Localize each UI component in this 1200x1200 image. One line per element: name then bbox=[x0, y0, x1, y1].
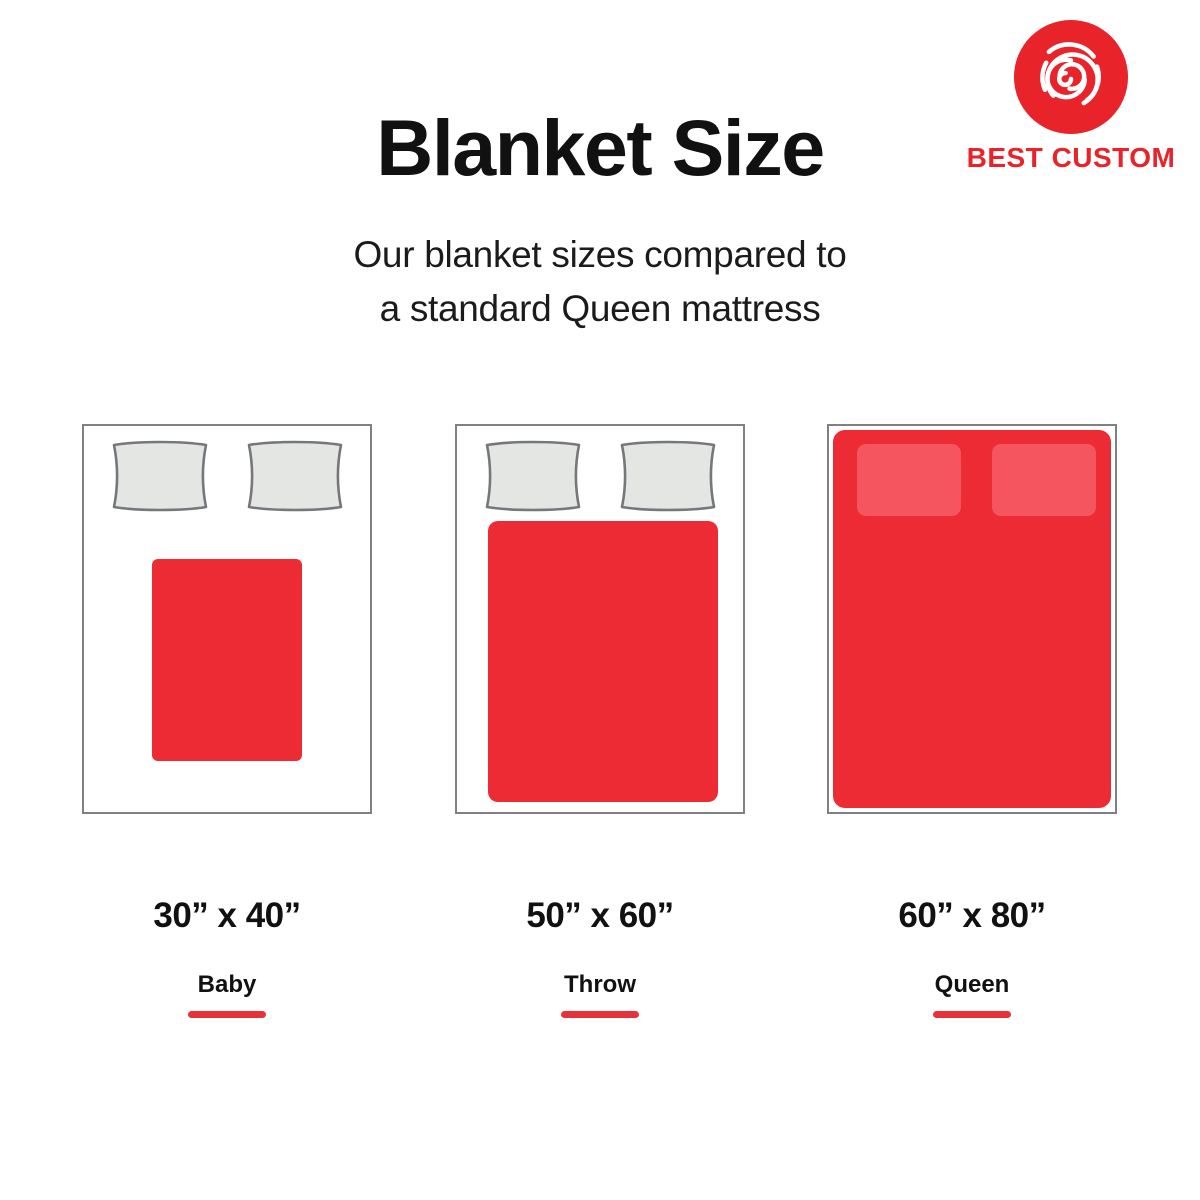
pillow-right-icon bbox=[243, 440, 347, 512]
bed-diagram-row bbox=[0, 424, 1200, 824]
caption-throw: 50” x 60” Throw bbox=[455, 898, 745, 1018]
size-name-label: Queen bbox=[827, 973, 1117, 997]
pillow-left-icon bbox=[108, 440, 212, 512]
size-name-label: Throw bbox=[455, 973, 745, 997]
pillow-left-icon bbox=[857, 444, 961, 516]
caption-row: 30” x 40” Baby 50” x 60” Throw 60” x 80”… bbox=[0, 898, 1200, 1038]
page-title: Blanket Size bbox=[0, 108, 1200, 187]
underline-rule bbox=[561, 1011, 639, 1018]
underline-rule bbox=[188, 1011, 266, 1018]
bed-diagram-queen bbox=[827, 424, 1117, 814]
bed-diagram-baby bbox=[82, 424, 372, 814]
page-subtitle: Our blanket sizes compared to a standard… bbox=[0, 228, 1200, 335]
subtitle-line-1: Our blanket sizes compared to bbox=[0, 228, 1200, 282]
dimensions-label: 50” x 60” bbox=[455, 898, 745, 933]
blanket-queen bbox=[833, 430, 1111, 808]
caption-queen: 60” x 80” Queen bbox=[827, 898, 1117, 1018]
underline-rule bbox=[933, 1011, 1011, 1018]
size-name-label: Baby bbox=[82, 973, 372, 997]
pillow-left-icon bbox=[481, 440, 585, 512]
bed-diagram-throw bbox=[455, 424, 745, 814]
pillow-right-icon bbox=[616, 440, 720, 512]
caption-baby: 30” x 40” Baby bbox=[82, 898, 372, 1018]
pillow-right-icon bbox=[992, 444, 1096, 516]
subtitle-line-2: a standard Queen mattress bbox=[0, 282, 1200, 336]
dimensions-label: 60” x 80” bbox=[827, 898, 1117, 933]
blanket-baby bbox=[152, 559, 302, 761]
blanket-throw bbox=[488, 521, 718, 802]
dimensions-label: 30” x 40” bbox=[82, 898, 372, 933]
infographic-page: BEST CUSTOM Blanket Size Our blanket siz… bbox=[0, 0, 1200, 1200]
